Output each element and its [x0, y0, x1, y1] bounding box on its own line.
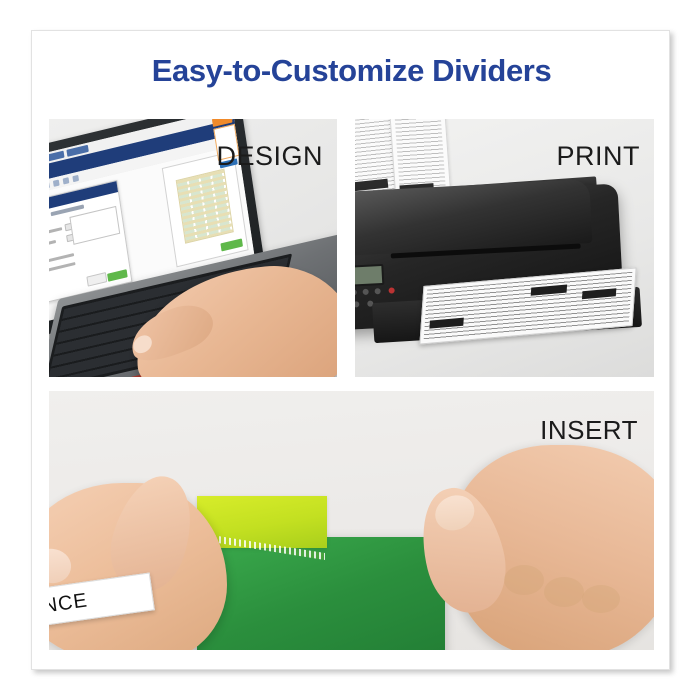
cancel-button[interactable]	[86, 272, 107, 287]
printer-display-screen	[355, 264, 384, 287]
hand-right	[452, 445, 654, 650]
knuckle-shading	[504, 565, 544, 595]
knuckle-shading	[544, 577, 584, 607]
panel-label-insert: INSERT	[540, 417, 638, 443]
left-thumbnail	[49, 545, 74, 586]
panel-insert: FINANCE INSERT	[49, 391, 654, 650]
knuckle-shading	[582, 585, 620, 613]
field-label	[49, 240, 56, 248]
printer-button[interactable]	[355, 289, 357, 295]
option-label	[49, 262, 76, 273]
product-image-canvas: Easy-to-Customize Dividers	[0, 0, 700, 700]
page-title: Easy-to-Customize Dividers	[32, 53, 671, 89]
printer-button[interactable]	[375, 288, 381, 294]
panel-print: PRINT	[355, 119, 654, 377]
printer-button[interactable]	[363, 289, 369, 295]
panel-label-print: PRINT	[557, 143, 641, 170]
printer-button[interactable]	[355, 301, 359, 307]
divider-template-grid	[176, 169, 234, 244]
panel-label-design: DESIGN	[216, 143, 323, 170]
apply-button[interactable]	[107, 269, 128, 282]
printer-power-button[interactable]	[388, 287, 394, 293]
next-button[interactable]	[220, 238, 243, 251]
preview-box	[69, 206, 120, 245]
field-label	[49, 227, 62, 237]
panel-design: DESIGN	[49, 119, 337, 377]
product-card: Easy-to-Customize Dividers	[31, 30, 670, 670]
label-strip-text: FINANCE	[49, 589, 89, 625]
right-thumbnail	[430, 489, 480, 536]
label-strip: FINANCE	[49, 572, 155, 631]
